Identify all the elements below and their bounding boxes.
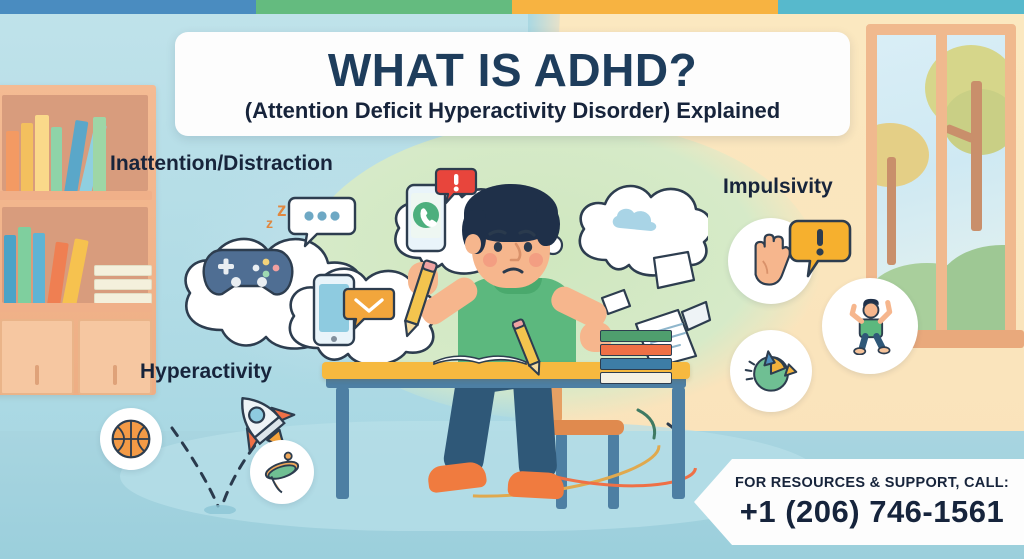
contact-banner[interactable]: FOR RESOURCES & SUPPORT, CALL: +1 (206) … [694,459,1024,545]
hill-shape [937,245,1016,333]
book [6,131,19,193]
exploding-pie-chart-icon [742,342,800,400]
student-shoe [427,461,488,494]
book [4,235,16,305]
book [93,117,106,193]
jumping-child-icon [841,297,899,355]
cabinet-knob-icon [113,365,117,385]
title-banner: WHAT IS ADHD? (Attention Deficit Hyperac… [175,32,850,136]
bookshelf-books-top [6,97,146,193]
alert-badge-icon [434,166,478,206]
accent-band-green [256,0,512,14]
book-stack-item [600,344,672,356]
book [21,123,33,193]
contact-cta-text: FOR RESOURCES & SUPPORT, CALL: [735,475,1009,491]
page-subtitle: (Attention Deficit Hyperactivity Disorde… [245,100,780,122]
book [35,115,49,193]
bookshelf-plank [0,303,152,312]
book-stack-item [600,372,672,384]
student-shoe [507,471,564,500]
pencil-icon [398,258,440,344]
window-mullion [936,35,947,333]
stacked-flat-books [94,265,152,307]
chat-bubble-icon [287,192,357,250]
book-stack-item [600,358,672,370]
tree-icon [866,123,931,273]
cabinet-knob-icon [35,365,39,385]
label-impulsivity: Impulsivity [723,175,833,199]
basketball-icon [109,417,153,461]
label-inattention: Inattention/Distraction [110,152,333,176]
desk-leg [336,387,349,499]
desk-leg [672,387,685,499]
page-title: WHAT IS ADHD? [328,47,697,93]
spinning-top-icon [259,449,305,495]
exclamation-bubble-icon [788,218,852,280]
flat-book [94,265,152,276]
spinning-top-badge [250,440,314,504]
bookshelf-plank [0,191,152,200]
book-stack [600,330,672,386]
flat-book [94,279,152,290]
book [33,233,45,305]
accent-band-orange [512,0,778,14]
jumping-child-badge [822,278,918,374]
exploding-pie-chart-badge [730,330,812,412]
basketball-badge [100,408,162,470]
accent-band-blue [0,0,256,14]
accent-band-teal [778,0,1024,14]
book-stack-item [600,330,672,342]
infographic-canvas: WHAT IS ADHD? (Attention Deficit Hyperac… [0,0,1024,559]
book [18,227,31,305]
sleep-z-icon: z [266,215,273,231]
bookshelf [0,85,156,395]
label-hyperactivity: Hyperactivity [140,360,272,384]
contact-phone-number: +1 (206) 746-1561 [740,494,1004,530]
sleep-z-icon: z [277,200,287,222]
email-notification-icon [342,286,396,332]
accent-color-band [0,0,1024,14]
open-book-icon [432,348,528,365]
cabinet-door-left [0,319,74,395]
game-controller-icon [200,240,296,302]
student-facial-features [472,214,552,288]
book [51,127,62,193]
